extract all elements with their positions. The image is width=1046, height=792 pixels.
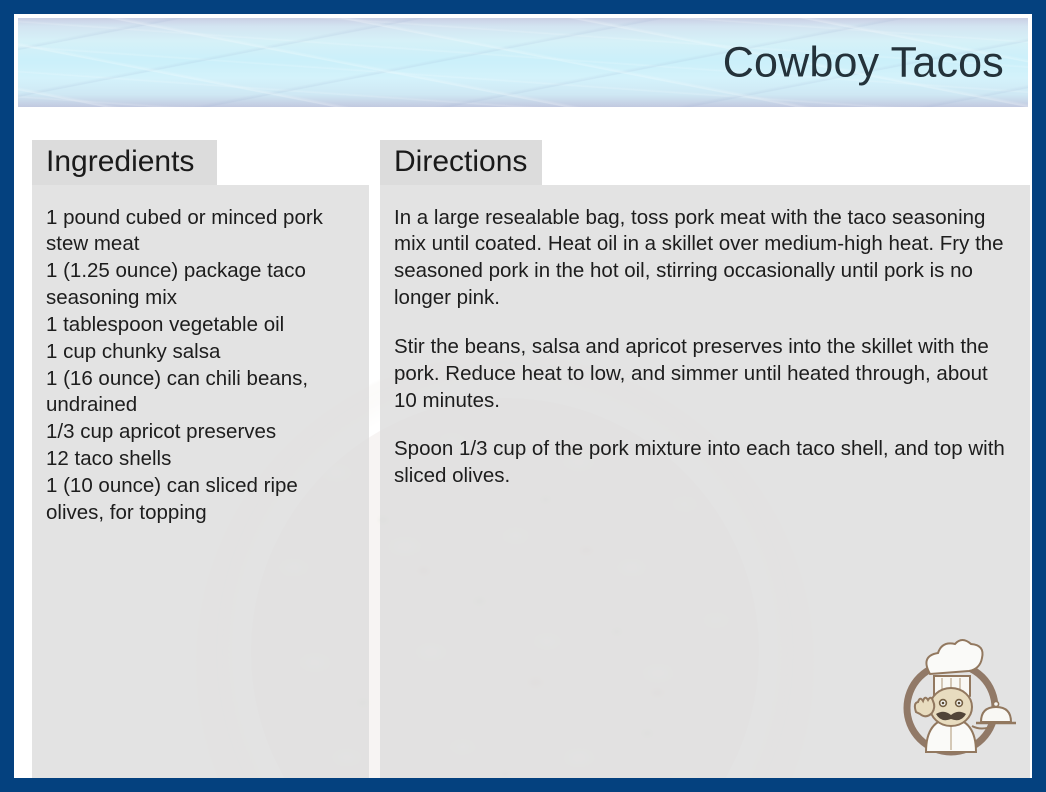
ingredient-item: 1/3 cup apricot preserves [46,419,355,446]
ingredient-item: 1 (1.25 ounce) package taco seasoning mi… [46,258,355,312]
recipe-card: Cowboy Tacos Ingredients 1 pound cubed o… [0,0,1046,792]
chef-face [930,688,972,726]
page-title: Cowboy Tacos [723,38,1004,87]
ingredient-item: 1 tablespoon vegetable oil [46,312,355,339]
ingredients-heading: Ingredients [32,140,217,185]
ingredient-item: 12 taco shells [46,446,355,473]
direction-step: In a large resealable bag, toss pork mea… [394,205,1016,312]
header-banner: Cowboy Tacos [18,18,1028,107]
direction-step: Spoon 1/3 cup of the pork mixture into e… [394,436,1016,490]
ingredients-list: 1 pound cubed or minced pork stew meat1 … [46,205,355,527]
cloche-icon [981,707,1011,722]
ingredient-item: 1 cup chunky salsa [46,339,355,366]
chef-hand [915,698,934,717]
ingredient-item: 1 pound cubed or minced pork stew meat [46,205,355,259]
ingredients-panel: 1 pound cubed or minced pork stew meat1 … [32,185,369,792]
chef-mascot-logo [886,634,1016,764]
directions-heading: Directions [380,140,542,185]
ingredients-column: Ingredients 1 pound cubed or minced pork… [32,140,369,792]
ingredient-item: 1 (10 ounce) can sliced ripe olives, for… [46,473,355,527]
direction-step: Stir the beans, salsa and apricot preser… [394,334,1016,415]
ingredient-item: 1 (16 ounce) can chili beans, undrained [46,366,355,420]
chef-hat-icon [926,640,982,674]
